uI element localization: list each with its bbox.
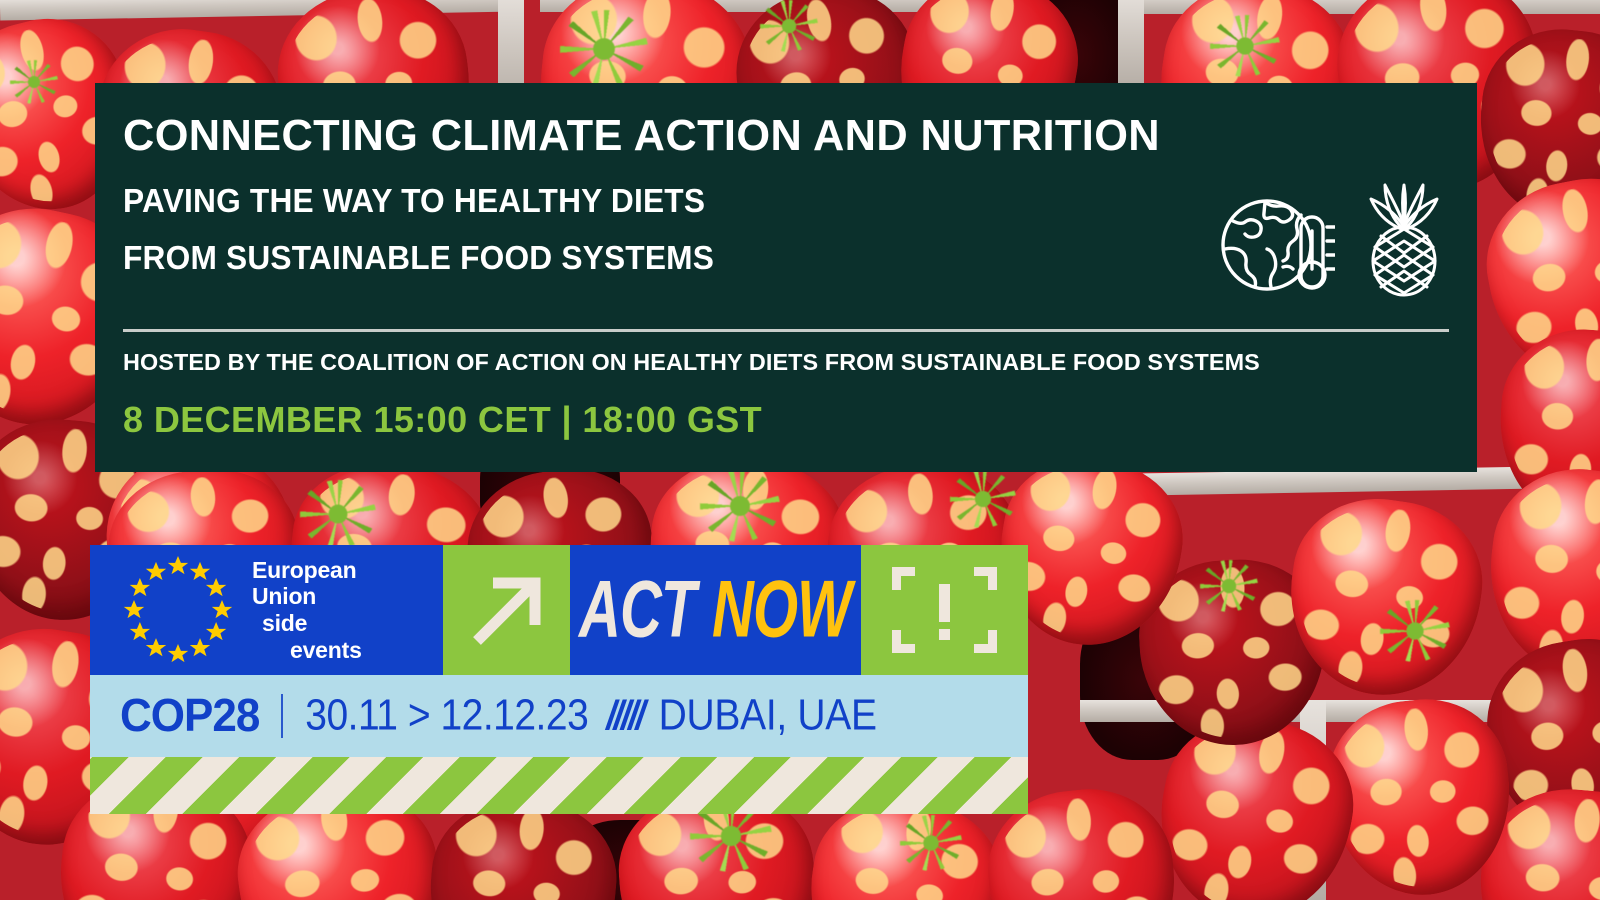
bracket-bottom-right-icon	[974, 630, 997, 653]
now-word: NOW	[712, 570, 851, 651]
globe-thermometer-icon	[1217, 189, 1335, 302]
eu-logo-line-1: European	[252, 557, 362, 584]
cop28-separator	[281, 694, 283, 738]
pineapple-icon	[1361, 181, 1447, 302]
arrow-up-right-icon	[469, 573, 545, 654]
title-panel: CONNECTING CLIMATE ACTION AND NUTRITION …	[95, 83, 1477, 472]
subtitle-line-1: PAVING THE WAY TO HEALTHY DIETS	[123, 173, 1396, 230]
cop28-location: DUBAI, UAE	[659, 691, 877, 740]
striped-footer-bar	[90, 757, 1028, 814]
subtitle-line-2: FROM SUSTAINABLE FOOD SYSTEMS	[123, 230, 1396, 287]
cop28-slashes: /////	[606, 693, 642, 739]
exclamation-focus-icon	[892, 567, 997, 653]
exclamation-stem	[939, 584, 950, 622]
bracket-top-right-icon	[974, 567, 997, 590]
act-now-tile: ACT NOW	[570, 545, 861, 675]
hosted-by-text: HOSTED BY THE COALITION OF ACTION ON HEA…	[123, 349, 1260, 376]
eu-logo-wordmark: European Union side events	[252, 557, 362, 664]
exclamation-tile	[861, 545, 1028, 675]
eu-stars-icon	[118, 554, 238, 666]
bracket-bottom-left-icon	[892, 630, 915, 653]
eu-logo-line-4: events	[252, 637, 362, 664]
logo-band: European Union side events ACT NOW	[90, 545, 1028, 675]
page-title: CONNECTING CLIMATE ACTION AND NUTRITION	[123, 113, 1429, 159]
bracket-top-left-icon	[892, 567, 915, 590]
cop28-logo: COP28	[120, 690, 259, 743]
cop28-dates: 30.11 > 12.12.23	[305, 691, 588, 740]
eu-logo-line-2: Union	[252, 583, 362, 610]
icon-cluster	[1217, 181, 1447, 302]
act-word: ACT	[579, 570, 695, 651]
eu-logo-line-3: side	[252, 610, 362, 637]
eu-side-events-logo: European Union side events	[90, 545, 443, 675]
event-datetime: 8 DECEMBER 15:00 CET | 18:00 GST	[123, 399, 762, 441]
arrow-tile	[443, 545, 570, 675]
exclamation-dot	[939, 629, 950, 640]
event-banner: CONNECTING CLIMATE ACTION AND NUTRITION …	[0, 0, 1600, 900]
panel-divider	[123, 329, 1449, 332]
cop28-bar: COP28 30.11 > 12.12.23 ///// DUBAI, UAE	[90, 675, 1028, 757]
